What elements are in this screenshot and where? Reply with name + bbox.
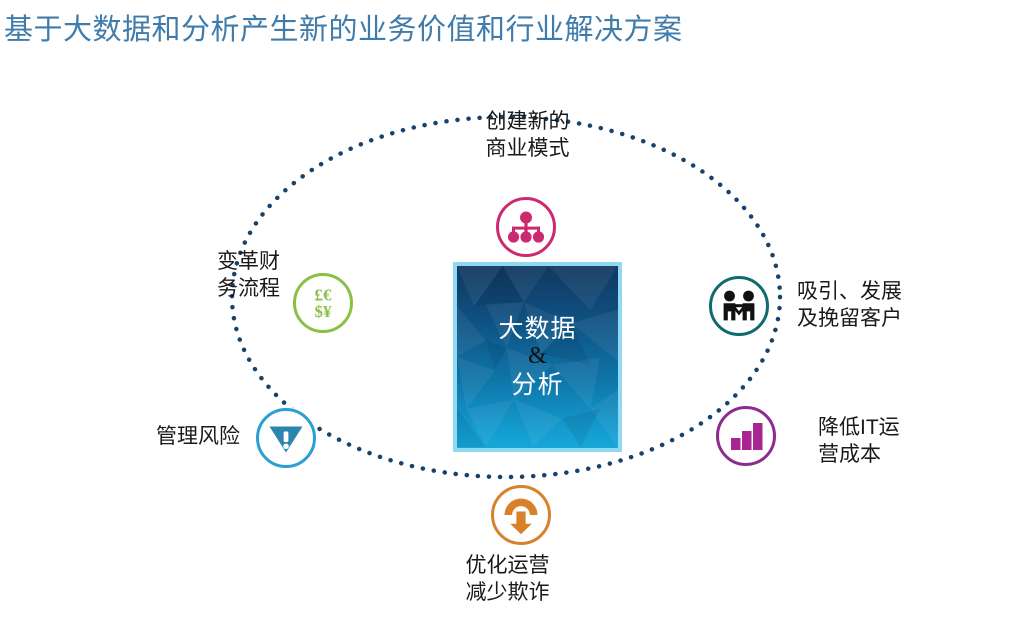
center-line-2: &: [528, 344, 547, 369]
center-tile: 大数据 & 分析: [453, 262, 622, 452]
center-line-1: 大数据: [498, 314, 576, 345]
currency-symbols-icon: £€ $¥: [292, 272, 354, 334]
node-optimize-operations-reduce-fraud[interactable]: [490, 484, 552, 546]
node-manage-risk[interactable]: [255, 407, 317, 469]
diagram-stage: 大数据 & 分析 创建新: [0, 60, 1012, 633]
warning-triangle-icon: [255, 407, 317, 469]
node-reduce-it-cost[interactable]: [715, 405, 777, 467]
center-tile-text: 大数据 & 分析: [457, 266, 618, 448]
label-new-business-models: 创建新的 商业模式: [420, 108, 635, 162]
label-optimize-operations-reduce-fraud: 优化运营 减少欺诈: [400, 552, 615, 606]
node-acquire-grow-retain-customers[interactable]: [708, 275, 770, 337]
label-acquire-grow-retain-customers: 吸引、发展 及挽留客户: [797, 278, 997, 332]
label-manage-risk: 管理风险: [60, 423, 240, 450]
page-title: 基于大数据和分析产生新的业务价值和行业解决方案: [4, 10, 683, 50]
svg-text:$¥: $¥: [315, 302, 333, 321]
node-transform-finance-process[interactable]: £€ $¥: [292, 272, 354, 334]
org-chart-icon: [495, 196, 557, 258]
node-new-business-models[interactable]: [495, 196, 557, 258]
bar-chart-icon: [715, 405, 777, 467]
label-reduce-it-cost: 降低IT运 营成本: [818, 414, 998, 468]
handshake-icon: [708, 275, 770, 337]
slide-canvas: 基于大数据和分析产生新的业务价值和行业解决方案: [0, 0, 1012, 633]
center-line-3: 分析: [511, 370, 563, 401]
down-arrow-shield-icon: [490, 484, 552, 546]
label-transform-finance-process: 变革财 务流程: [110, 248, 280, 302]
